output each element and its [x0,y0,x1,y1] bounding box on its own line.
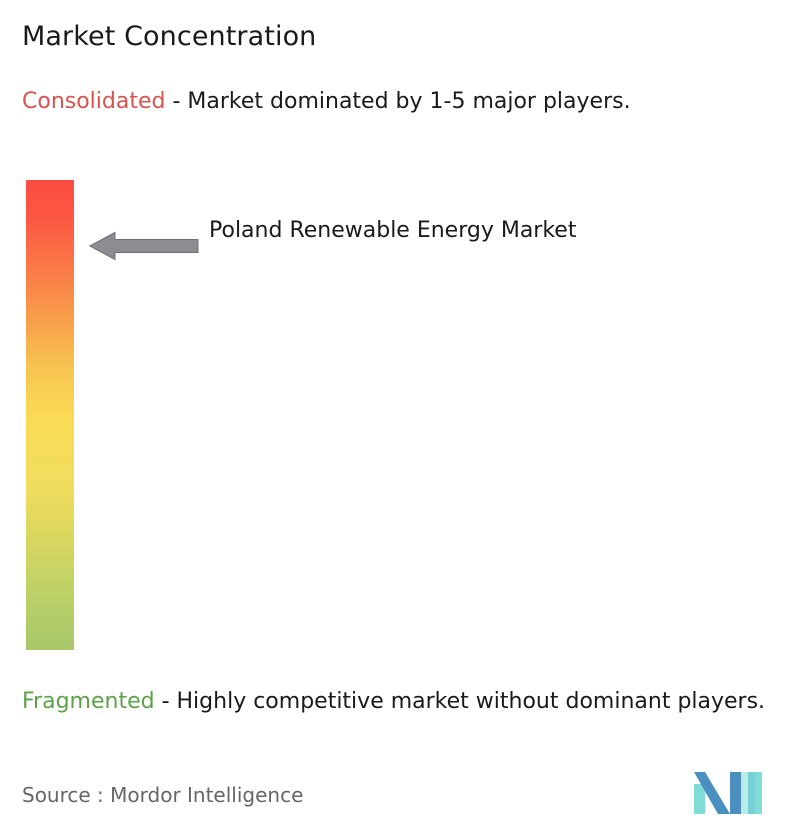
source-note: Source : Mordor Intelligence [22,781,303,809]
market-concentration-figure: Market Concentration Consolidated - Mark… [0,0,796,834]
page-title: Market Concentration [22,20,316,54]
consolidated-keyword: Consolidated [22,89,165,114]
concentration-gradient-bar [26,180,74,650]
mordor-intelligence-logo-icon [692,770,764,814]
consolidated-description: - Market dominated by 1-5 major players. [165,89,630,114]
fragmented-keyword: Fragmented [22,689,155,714]
fragmented-description: - Highly competitive market without domi… [155,689,765,714]
fragmented-caption: Fragmented - Highly competitive market w… [22,686,790,718]
left-arrow-icon [89,228,199,264]
consolidated-caption: Consolidated - Market dominated by 1-5 m… [22,86,778,118]
market-pointer-label: Poland Renewable Energy Market [209,215,639,247]
